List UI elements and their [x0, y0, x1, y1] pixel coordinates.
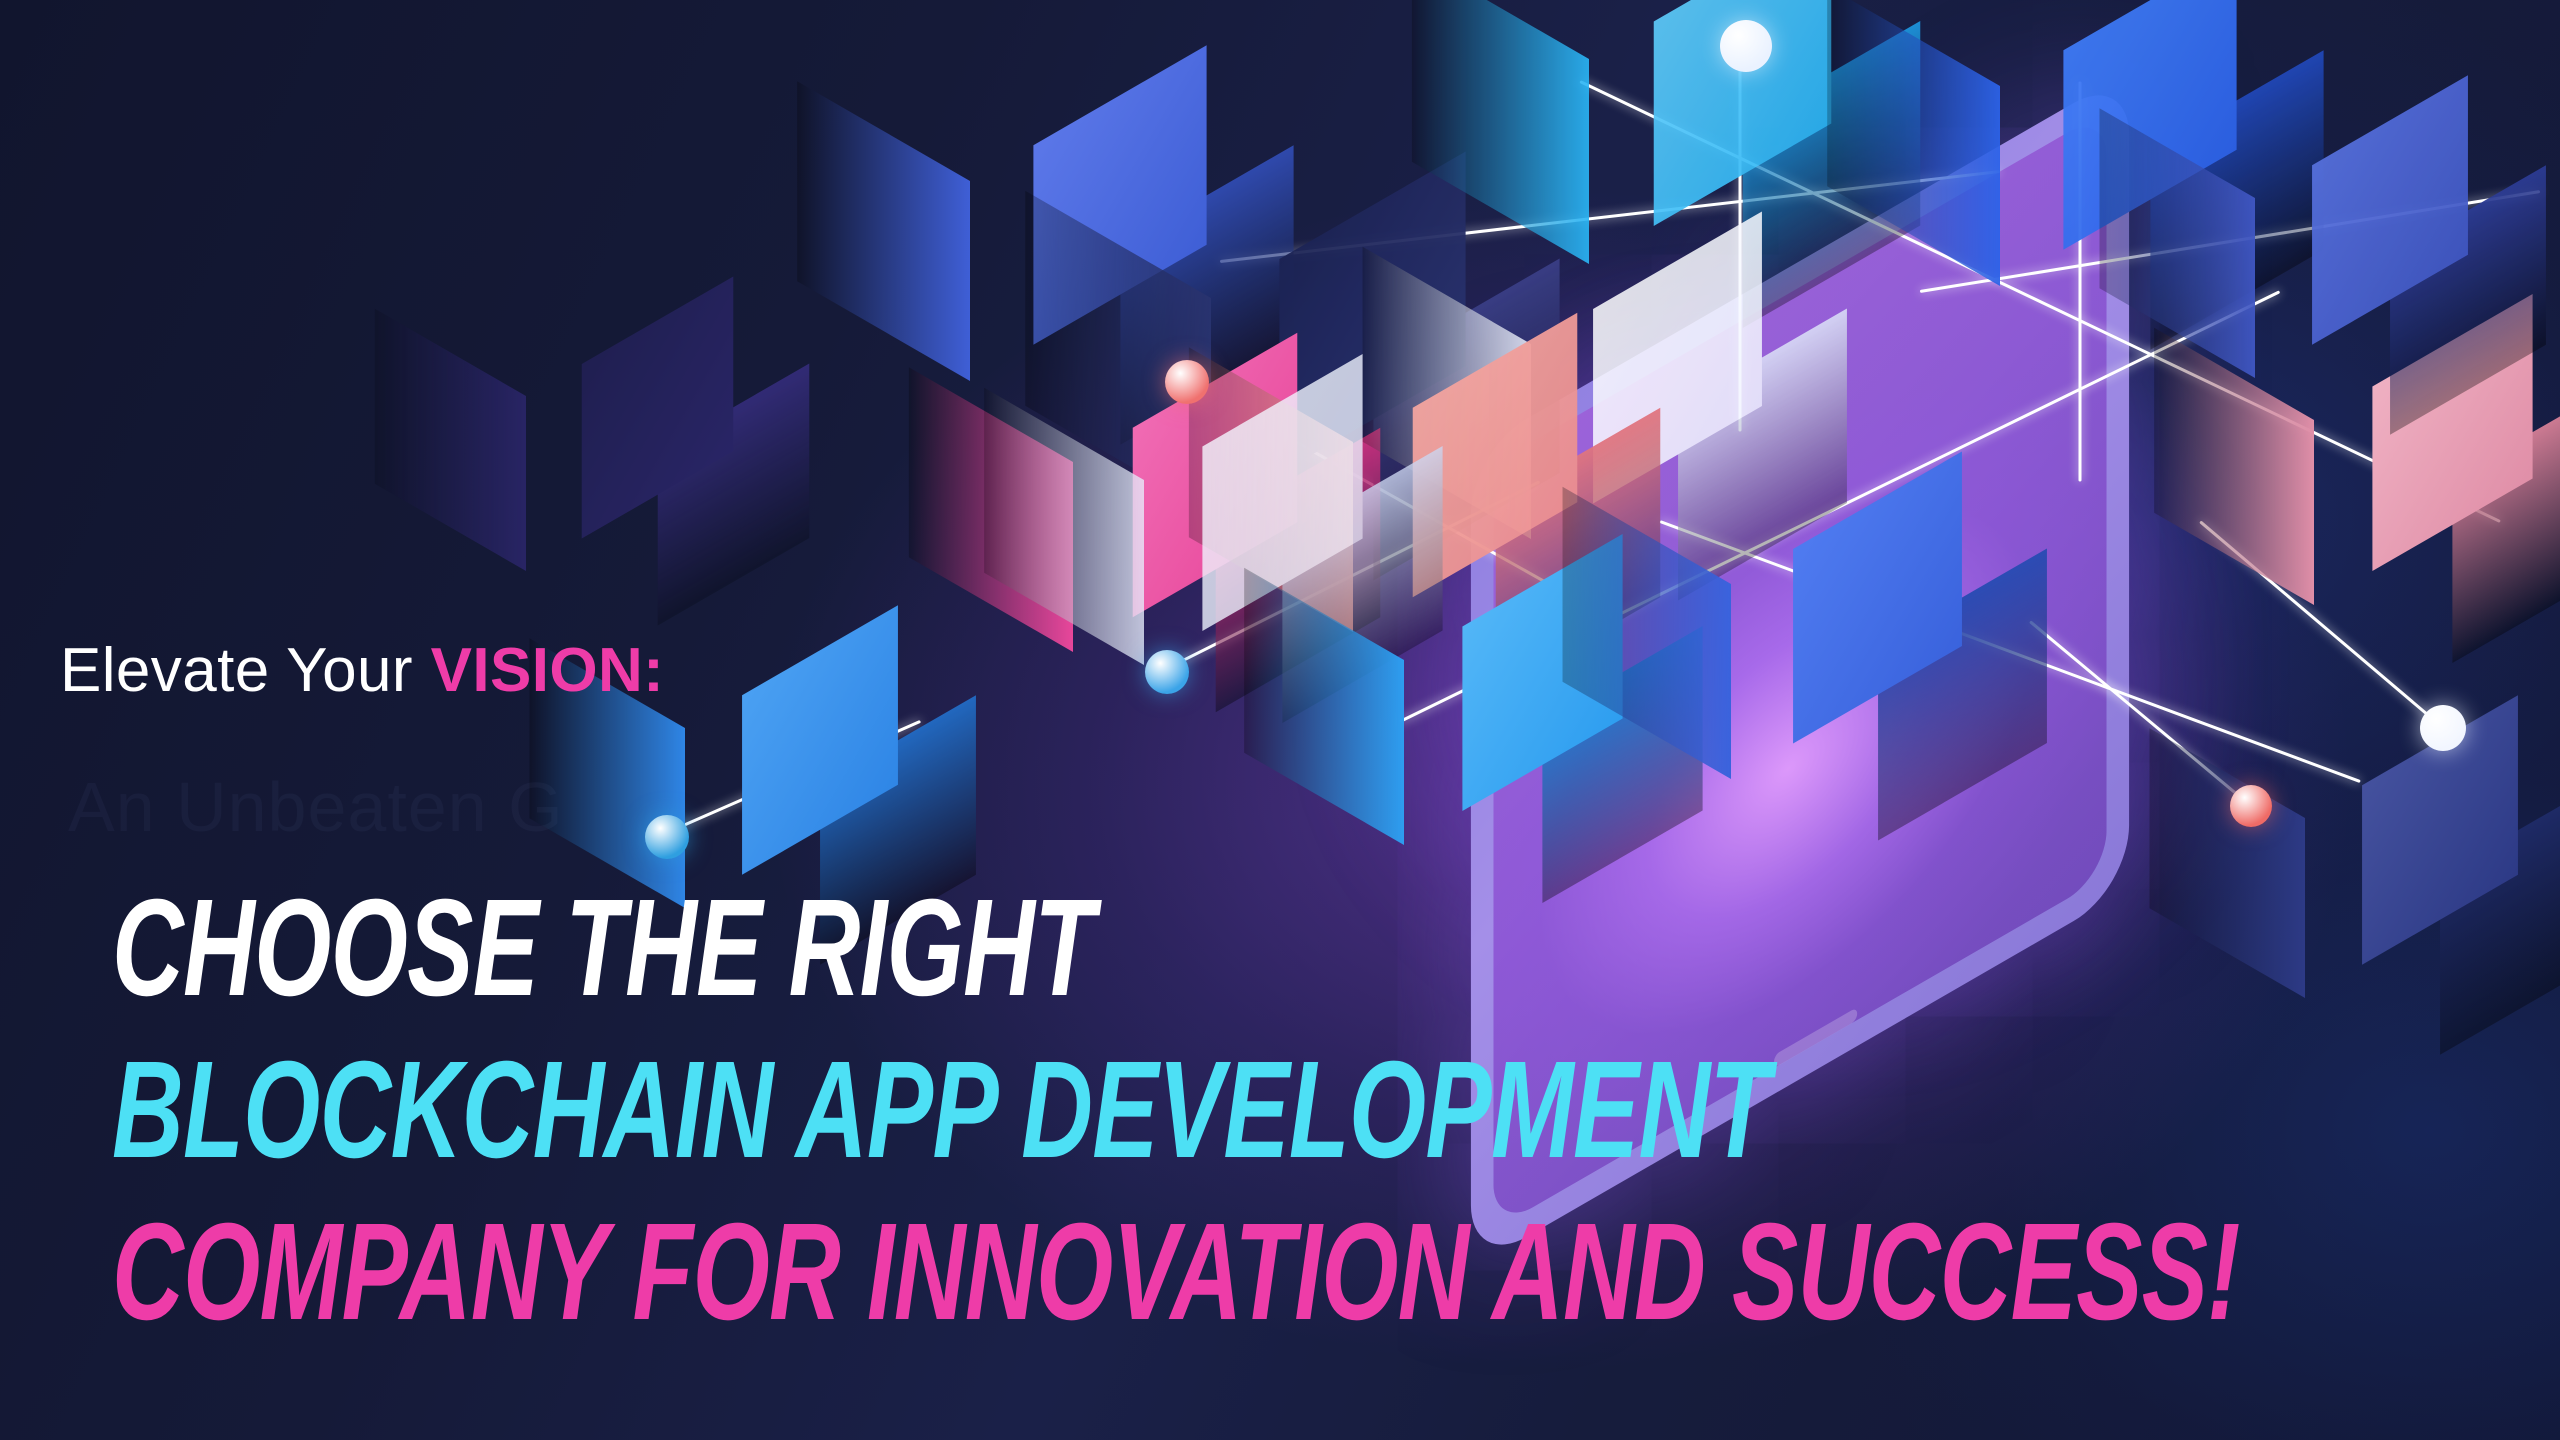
- cube-c-white-left: [1190, 400, 1375, 585]
- ghost-watermark-text: An Unbeaten G: [68, 772, 564, 842]
- node-white-top-icon: [1720, 20, 1772, 72]
- node-blue-left-icon: [645, 815, 689, 859]
- node-pink-upper-icon: [1165, 360, 1209, 404]
- cube-c-blue-farright: [2300, 120, 2480, 300]
- headline-line-1: CHOOSE THE RIGHT: [112, 885, 1094, 1012]
- cube-face-left: [375, 308, 526, 570]
- cube-c-navy-bottomright: [2350, 740, 2530, 920]
- node-red-lower-icon: [2230, 785, 2272, 827]
- eyebrow-accent: VISION:: [431, 636, 665, 705]
- node-white-right-icon: [2420, 705, 2466, 751]
- cube-c-purple-dim: [570, 320, 745, 495]
- eyebrow-heading: Elevate Your VISION:: [60, 640, 1880, 702]
- hero-banner: Elevate Your VISION: An Unbeaten G CHOOS…: [0, 0, 2560, 1440]
- cube-face-left: [797, 82, 970, 382]
- eyebrow-lead: Elevate Your: [60, 636, 431, 705]
- hero-text-block: Elevate Your VISION: An Unbeaten G CHOOS…: [60, 640, 1880, 702]
- headline-line-3: COMPANY FOR INNOVATION AND SUCCESS!: [112, 1209, 2240, 1336]
- headline-line-2: BLOCKCHAIN APP DEVELOPMENT: [112, 1047, 1770, 1174]
- cube-c-white-center: [1580, 260, 1775, 455]
